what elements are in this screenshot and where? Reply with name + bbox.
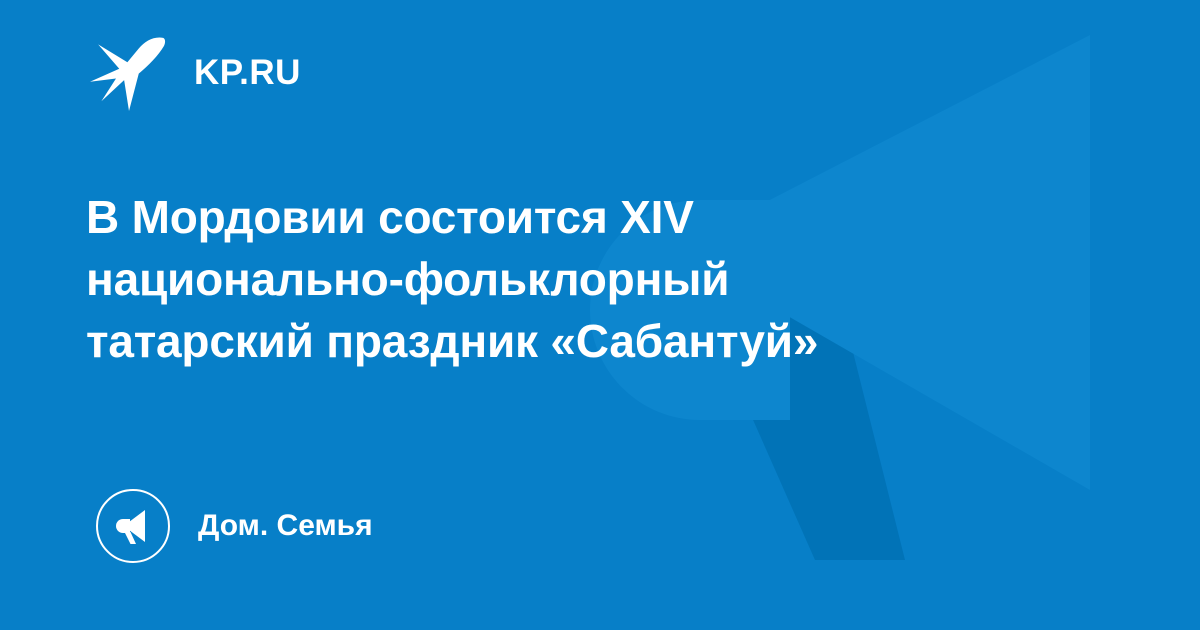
- social-share-card: KP.RU В Мордовии состоится XIV националь…: [0, 0, 1200, 630]
- rubric[interactable]: Дом. Семья: [96, 487, 373, 565]
- headline-line-2: национально-фольклорный: [86, 248, 1086, 310]
- headline-line-3: татарский праздник «Сабантуй»: [86, 310, 1086, 372]
- rubric-icon-badge[interactable]: [96, 489, 170, 563]
- headline-line-1: В Мордовии состоится XIV: [86, 186, 1086, 248]
- brand-row[interactable]: KP.RU: [88, 32, 301, 112]
- headline: В Мордовии состоится XIV национально-фол…: [86, 186, 1086, 372]
- rubric-label: Дом. Семья: [198, 511, 373, 541]
- megaphone-icon: [112, 505, 154, 547]
- brand-name: KP.RU: [194, 55, 301, 90]
- swallow-bird-logo-icon: [88, 33, 170, 111]
